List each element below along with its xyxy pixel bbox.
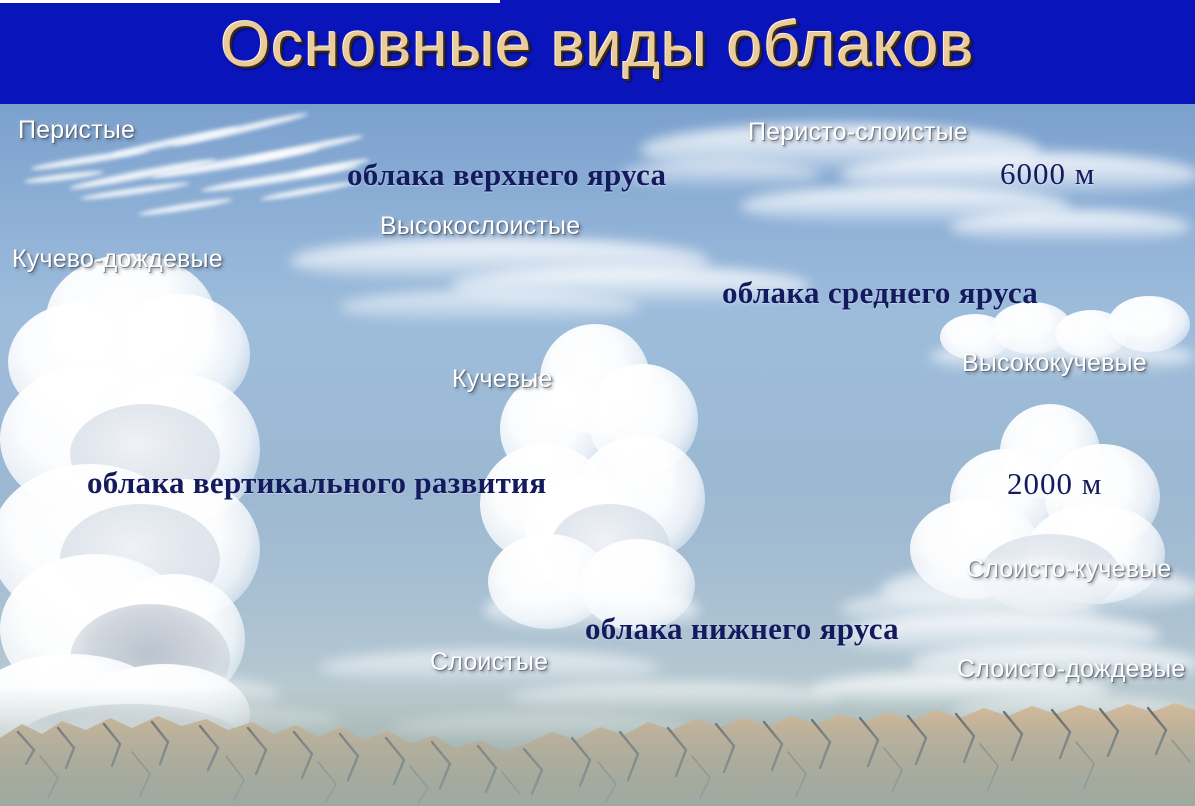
label-cumulus: Кучевые — [452, 365, 553, 394]
label-cirrus: Перистые — [18, 116, 135, 145]
cloud-types-poster: Основные виды облаков — [0, 0, 1195, 806]
label-cirrostratus: Перисто-слоистые — [748, 118, 968, 147]
stratocumulus-cloud-graphic — [880, 394, 1195, 644]
label-altitude-6000: 6000 м — [1000, 156, 1095, 192]
label-tier-upper: облака верхнего яруса — [347, 157, 666, 193]
label-nimbostratus: Слоисто-дождевые — [957, 655, 1185, 684]
banner-top-rule — [0, 0, 500, 3]
label-stratocumulus: Слоисто-кучевые — [966, 555, 1172, 584]
label-tier-lower: облака нижнего яруса — [585, 611, 899, 647]
label-altostratus: Высокослоистые — [380, 212, 580, 241]
page-title: Основные виды облаков — [0, 7, 1195, 81]
title-banner: Основные виды облаков — [0, 0, 1195, 110]
label-tier-vertical: облака вертикального развития — [87, 465, 546, 501]
label-stratus: Слоистые — [430, 648, 548, 677]
sky-background: Перистые Перисто-слоистые Высокослоистые… — [0, 104, 1195, 806]
mountain-haze-overlay — [0, 688, 1195, 806]
label-tier-middle: облака среднего яруса — [722, 275, 1038, 311]
label-cumulonimbus: Кучево-дождевые — [12, 245, 223, 274]
label-altitude-2000: 2000 м — [1007, 466, 1102, 502]
mountain-range-graphic — [0, 694, 1195, 806]
label-altocumulus: Высококучевые — [962, 349, 1147, 378]
